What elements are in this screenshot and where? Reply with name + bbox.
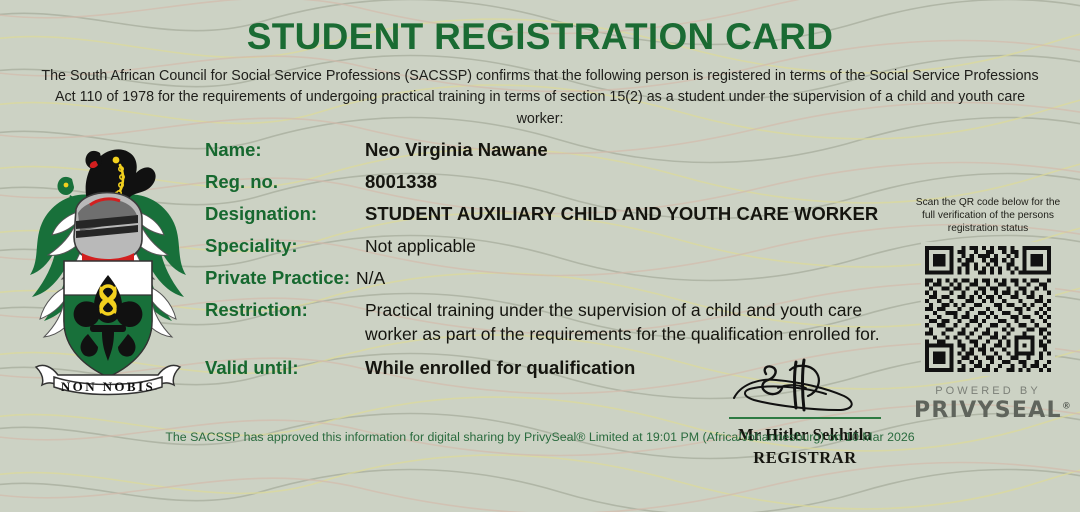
knight-helmet [74,193,142,263]
footer-approval-text: The SACSSP has approved this information… [0,430,1080,444]
privyseal-wordmark: PRIVYSEAL® [914,398,1062,423]
field-row-private-practice: Private Practice: N/A [205,267,917,289]
page-title: STUDENT REGISTRATION CARD [0,0,1080,57]
field-row-speciality: Speciality: Not applicable [205,235,917,257]
signature-block: Mr Hitler Sekhitla REGISTRAR [722,358,888,468]
field-label-private-practice: Private Practice: [205,267,356,289]
coat-of-arms-emblem: NON NOBIS [22,135,194,407]
field-value-designation: STUDENT AUXILIARY CHILD AND YOUTH CARE W… [365,203,878,225]
field-row-designation: Designation: STUDENT AUXILIARY CHILD AND… [205,203,917,225]
motto-text: NON NOBIS [61,379,155,394]
field-value-valid-until: While enrolled for qualification [365,357,635,379]
field-value-private-practice: N/A [356,268,385,289]
field-row-reg-no: Reg. no. 8001338 [205,171,917,193]
field-value-name: Neo Virginia Nawane [365,139,548,161]
shield [64,261,152,377]
signature-line [729,417,881,419]
field-label-valid-until: Valid until: [205,357,365,379]
field-label-speciality: Speciality: [205,235,365,257]
privyseal-branding: POWERED BY PRIVYSEAL® [914,385,1062,423]
qr-code[interactable] [921,242,1055,376]
qr-caption: Scan the QR code below for the full veri… [914,196,1062,235]
field-row-name: Name: Neo Virginia Nawane [205,139,917,161]
field-label-reg-no: Reg. no. [205,171,365,193]
qr-block: Scan the QR code below for the full veri… [914,196,1062,423]
field-value-restriction: Practical training under the supervision… [365,299,905,347]
field-row-restriction: Restriction: Practical training under th… [205,299,917,347]
field-label-restriction: Restriction: [205,299,365,321]
registrar-title: REGISTRAR [722,448,888,468]
registered-trademark-icon: ® [1062,402,1072,412]
field-label-name: Name: [205,139,365,161]
powered-by-label: POWERED BY [914,385,1062,397]
handwritten-signature [722,358,888,416]
intro-paragraph: The South African Council for Social Ser… [34,66,1046,130]
field-label-designation: Designation: [205,203,365,225]
field-value-reg-no: 8001338 [365,171,437,193]
card-body: NON NOBIS Name: Neo Virginia Nawane Reg.… [0,130,1080,460]
privyseal-wordmark-text: PRIVYSEAL [914,398,1062,423]
field-value-speciality: Not applicable [365,236,476,257]
student-registration-card: STUDENT REGISTRATION CARD The South Afri… [0,0,1080,512]
field-list: Name: Neo Virginia Nawane Reg. no. 80013… [205,139,917,389]
